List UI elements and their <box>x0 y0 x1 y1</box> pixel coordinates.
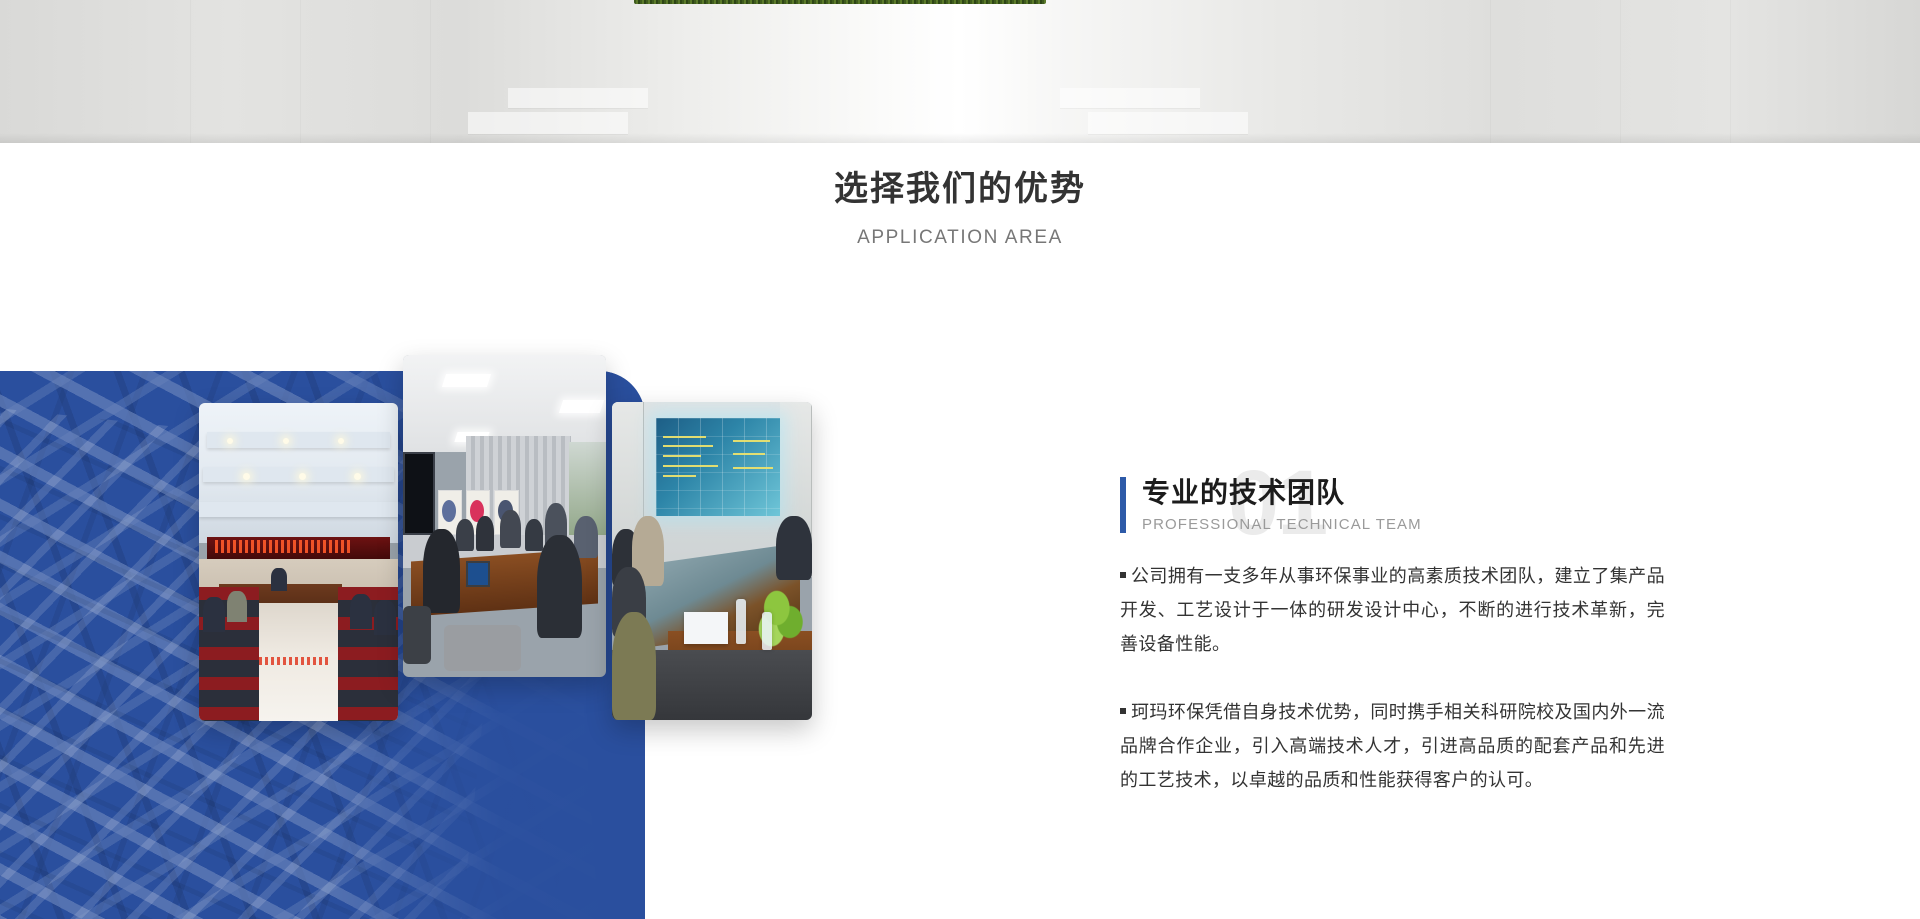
feature-paragraph-2: 珂玛环保凭借自身技术优势，同时携手相关科研院校及国内外一流品牌合作企业，引入高端… <box>1120 695 1665 797</box>
page-root: 选择我们的优势 APPLICATION AREA <box>0 0 1920 919</box>
feature-paragraph-2-text: 珂玛环保凭借自身技术优势，同时携手相关科研院校及国内外一流品牌合作企业，引入高端… <box>1120 702 1665 790</box>
bullet-marker-icon <box>1120 708 1126 714</box>
top-banner-image <box>0 0 1920 143</box>
feature-heading-cn: 专业的技术团队 <box>1142 471 1345 511</box>
page-subtitle: APPLICATION AREA <box>0 227 1920 249</box>
photo-technical-presentation[interactable] <box>612 402 812 720</box>
grass-strip-icon <box>634 0 1046 4</box>
accent-bar <box>1120 477 1126 533</box>
photo-conference-room-discussion[interactable] <box>403 355 606 677</box>
feature-heading-row: 01 专业的技术团队 PROFESSIONAL TECHNICAL TEAM <box>1120 471 1665 545</box>
photo-auditorium-meeting[interactable] <box>199 403 398 721</box>
feature-paragraph-1-text: 公司拥有一支多年从事环保事业的高素质技术团队，建立了集产品开发、工艺设计于一体的… <box>1120 566 1665 654</box>
bullet-marker-icon <box>1120 572 1126 578</box>
section-heading: 选择我们的优势 APPLICATION AREA <box>0 168 1920 249</box>
feature-content: 01 专业的技术团队 PROFESSIONAL TECHNICAL TEAM 公… <box>1120 471 1665 797</box>
feature-heading-en: PROFESSIONAL TECHNICAL TEAM <box>1142 516 1422 533</box>
page-title: 选择我们的优势 <box>0 168 1920 211</box>
feature-paragraph-1: 公司拥有一支多年从事环保事业的高素质技术团队，建立了集产品开发、工艺设计于一体的… <box>1120 559 1665 661</box>
